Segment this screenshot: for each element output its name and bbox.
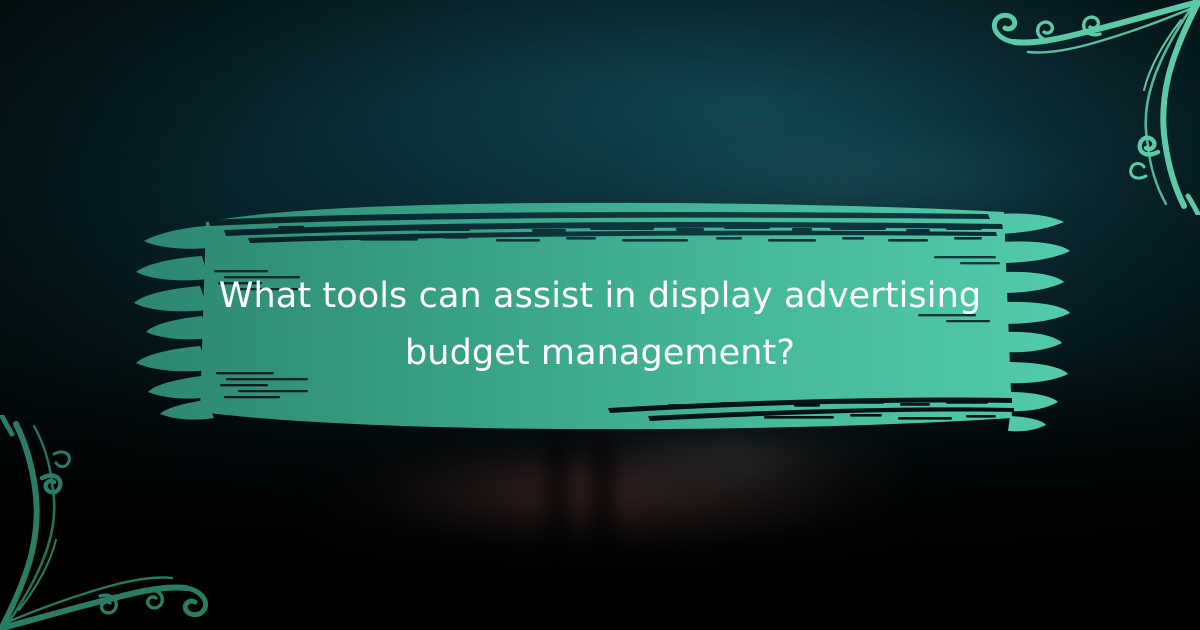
page-title: What tools can assist in display adverti…	[170, 268, 1030, 382]
social-share-card: What tools can assist in display adverti…	[0, 0, 1200, 630]
